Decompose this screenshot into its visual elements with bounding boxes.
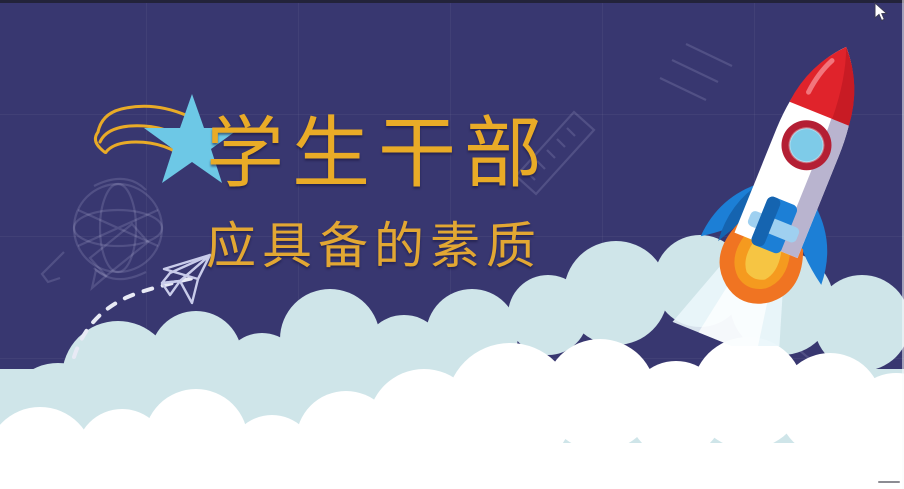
window-top-strip — [0, 0, 904, 3]
mouse-pointer-icon — [874, 2, 888, 22]
ruler-outline — [516, 112, 594, 194]
slide-canvas: 学生干部 应具备的素质 — [0, 0, 904, 489]
horizontal-scrollbar[interactable] — [878, 481, 900, 483]
paper-plane — [58, 225, 248, 370]
shooting-star — [84, 78, 244, 188]
rocket-illustration — [670, 26, 904, 346]
page-title: 学生干部 — [206, 112, 550, 196]
